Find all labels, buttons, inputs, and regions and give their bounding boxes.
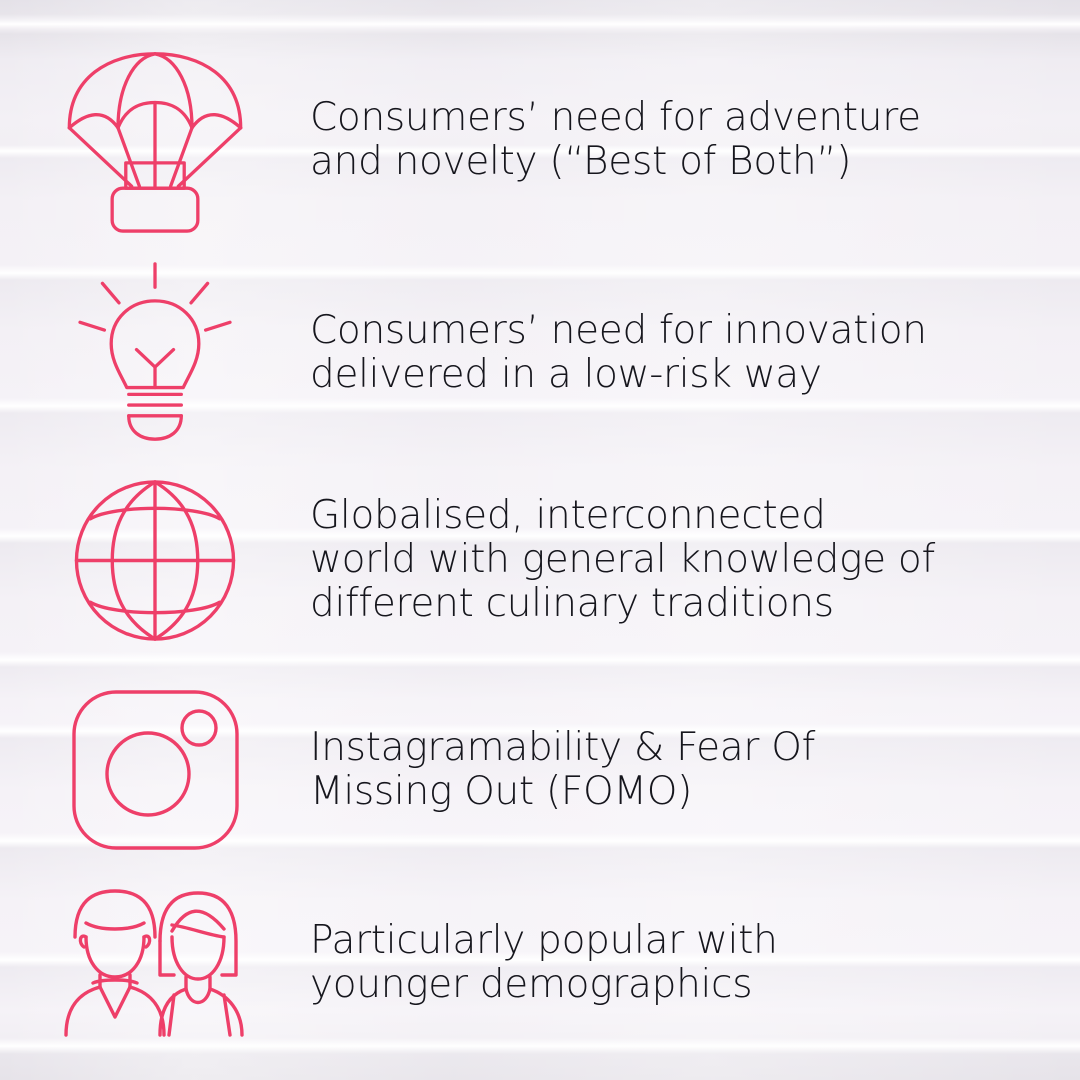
list-item: Consumers’ need for innovation delivered… — [0, 255, 1080, 450]
list-item: Particularly popular with younger demogr… — [0, 875, 1080, 1050]
list-item: Globalised, interconnected world with ge… — [0, 470, 1080, 650]
trend-list: Consumers’ need for adventure and novelt… — [0, 0, 1080, 1080]
list-item-label: Particularly popular with younger demogr… — [310, 919, 1040, 1006]
list-item-label: Consumers’ need for adventure and novelt… — [310, 96, 1040, 183]
two-people-icon — [56, 883, 254, 1043]
list-item: Consumers’ need for adventure and novelt… — [0, 40, 1080, 240]
icon-cell — [0, 48, 310, 233]
list-item: Instagramability & Fear Of Missing Out (… — [0, 675, 1080, 865]
text-cell: Consumers’ need for innovation delivered… — [310, 309, 1080, 396]
icon-cell — [0, 883, 310, 1043]
text-cell: Instagramability & Fear Of Missing Out (… — [310, 726, 1080, 813]
list-item-label: Globalised, interconnected world with ge… — [310, 494, 1040, 625]
text-cell: Consumers’ need for adventure and novelt… — [310, 96, 1080, 183]
text-cell: Globalised, interconnected world with ge… — [310, 494, 1080, 625]
text-cell: Particularly popular with younger demogr… — [310, 919, 1080, 1006]
instagram-camera-icon — [68, 686, 243, 854]
globe-icon — [66, 478, 244, 643]
icon-cell — [0, 686, 310, 854]
parachute-icon — [55, 48, 255, 233]
lightbulb-icon — [68, 260, 243, 445]
icon-cell — [0, 260, 310, 445]
icon-cell — [0, 478, 310, 643]
list-item-label: Instagramability & Fear Of Missing Out (… — [310, 726, 1040, 813]
list-item-label: Consumers’ need for innovation delivered… — [310, 309, 1040, 396]
